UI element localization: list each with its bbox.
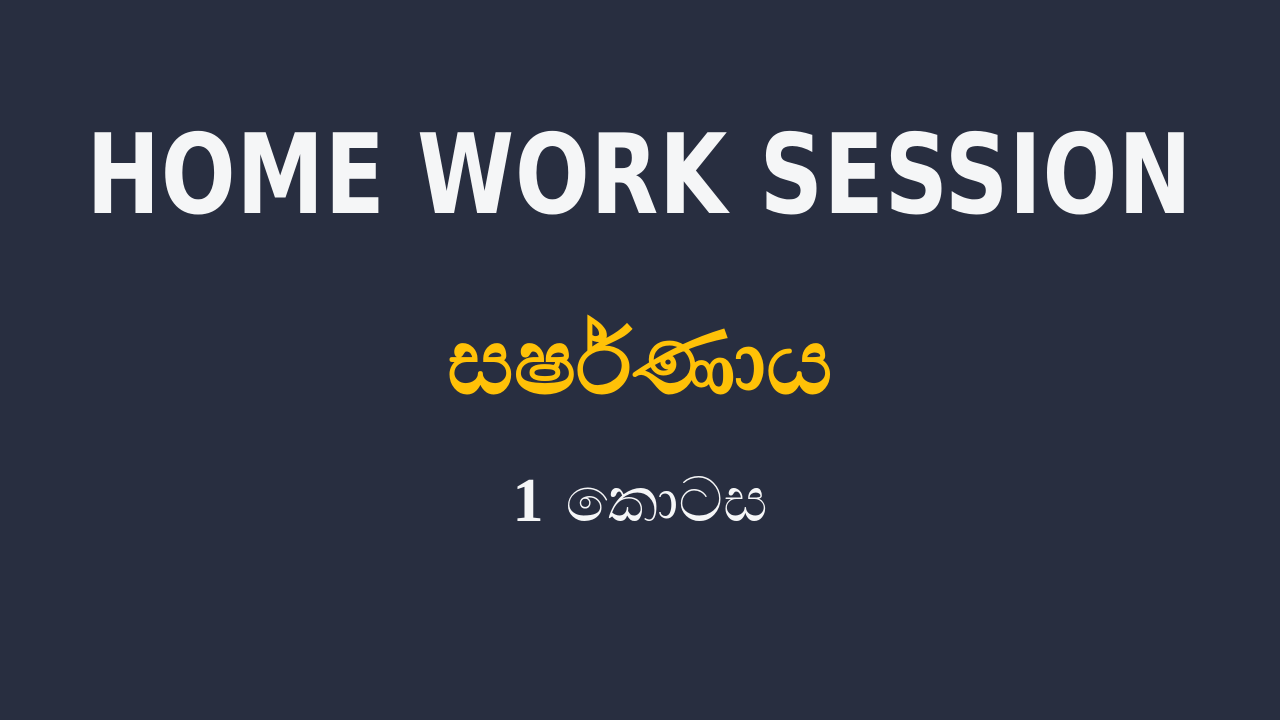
part-label-row: 1 කොටස <box>0 458 1280 544</box>
part-word: කොටස <box>565 466 767 534</box>
video-title-card: HOME WORK SESSION සර්ෂණාය 1 කොටස <box>0 0 1280 720</box>
part-number: 1 <box>512 467 543 535</box>
subject-heading-row: සර්ෂණාය <box>0 296 1280 428</box>
subject-heading: සර්ෂණාය <box>447 310 833 413</box>
part-label: 1 කොටස <box>512 466 767 535</box>
headline-banner: HOME WORK SESSION <box>0 120 1280 230</box>
page-title: HOME WORK SESSION <box>87 120 1193 230</box>
